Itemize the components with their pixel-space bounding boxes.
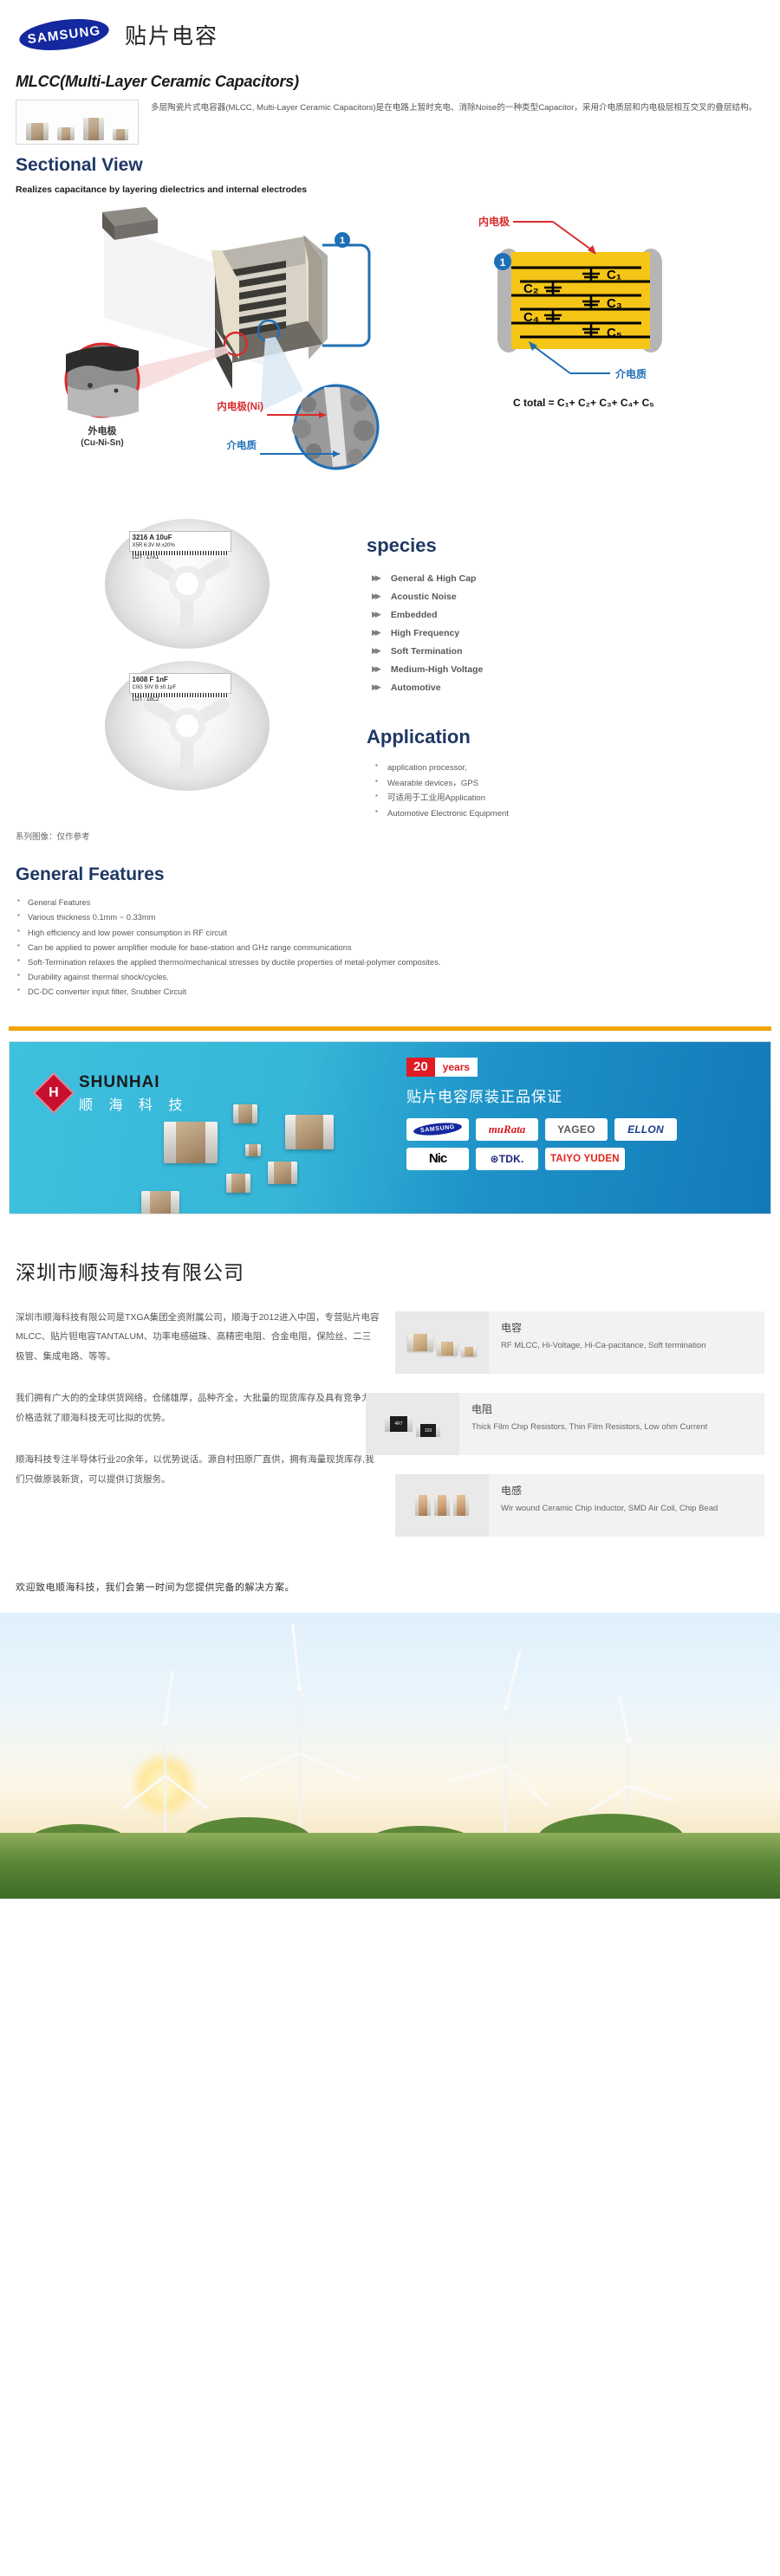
label-outer-electrode: 外电极 (88, 424, 118, 437)
years-badge: 20 years (406, 1058, 498, 1077)
application-item: 可适用于工业用Application (375, 791, 764, 806)
capacitor-thumb (395, 1311, 489, 1374)
reel-code-1: 3216 A 10uF (133, 534, 172, 541)
page-title: 贴片电容 (125, 19, 218, 50)
banner-left: H SHUNHAI 顺 海 科 技 (10, 1042, 391, 1214)
callout-1-bracket: 1 (322, 232, 369, 346)
species-item-label: Acoustic Noise (391, 592, 457, 602)
general-features-section: General Features General Features Variou… (0, 842, 780, 1000)
species-item: ▶▶ Embedded (367, 605, 764, 624)
species-item-label: High Frequency (391, 628, 459, 638)
general-features-item: General Features (16, 896, 764, 910)
sectional-diagram-svg: 1 外电极 (Cu-Ni-Sn) (0, 207, 780, 493)
company-section: 深圳市顺海科技有限公司 深圳市顺海科技有限公司是TXGA集团全资附属公司，顺海于… (0, 1214, 780, 1556)
species-item-label: Soft Termination (391, 646, 463, 657)
page-header: SAMSUNG 贴片电容 (0, 0, 780, 57)
banner-slogan: 贴片电容原装正品保证 (406, 1084, 770, 1106)
application-item: Automotive Electronic Equipment (375, 806, 764, 822)
species-application-column: species ▶▶ General & High Cap ▶▶ Acousti… (367, 519, 764, 821)
general-features-item: High efficiency and low power consumptio… (16, 926, 764, 941)
general-features-item: Soft-Termination relaxes the applied the… (16, 955, 764, 970)
brand-label: SAMSUNG (413, 1121, 462, 1137)
company-closing: 欢迎致电顺海科技，我们会第一时间为您提供完备的解决方案。 (0, 1556, 780, 1594)
company-paragraph: 深圳市顺海科技有限公司是TXGA集团全资附属公司，顺海于2012进入中国，专营贴… (16, 1308, 380, 1367)
capacitor-photo (164, 1122, 218, 1163)
banner-right: 20 years 贴片电容原装正品保证 SAMSUNG muRata YAGEO… (391, 1042, 770, 1214)
capacitor-photo (141, 1191, 179, 1214)
company-body: 深圳市顺海科技有限公司是TXGA集团全资附属公司，顺海于2012进入中国，专营贴… (16, 1308, 764, 1556)
brand-logo-taiyo-yuden[interactable]: TAIYO YUDEN (545, 1148, 625, 1170)
category-card-body: 电容 RF MLCC, Hi-Voltage, Hi-Ca-pacitance,… (489, 1311, 764, 1374)
years-word: years (435, 1058, 478, 1077)
company-text-column: 深圳市顺海科技有限公司是TXGA集团全资附属公司，顺海于2012进入中国，专营贴… (16, 1308, 380, 1512)
capacitor-photo (226, 1174, 250, 1193)
product-category-cards: 电容 RF MLCC, Hi-Voltage, Hi-Ca-pacitance,… (395, 1308, 764, 1556)
species-application-section: 3216 A 10uF X5R 6.3V M ±20% LOT : 17A1 1… (0, 505, 780, 821)
cap-label-c2: C₂ (523, 282, 539, 296)
chip-capacitor-icon (57, 127, 75, 140)
cap-label-c3: C₃ (607, 296, 622, 311)
cap-label-c1: C₁ (607, 268, 621, 282)
banner-divider (9, 1026, 771, 1031)
category-card-body: 电阻 Thick Film Chip Resistors, Thin Film … (459, 1393, 764, 1455)
brand-logo-samsung[interactable]: SAMSUNG (406, 1118, 469, 1141)
reel-sub-1: X5R 6.3V M ±20% (133, 543, 228, 550)
application-item: application processor, (375, 761, 764, 776)
species-title: species (367, 534, 764, 557)
species-item-label: Automotive (391, 683, 441, 693)
species-item: ▶▶ High Frequency (367, 624, 764, 642)
mlcc-chip-small (102, 207, 158, 240)
brand-logo-grid: SAMSUNG muRata YAGEO ELLON Nic ⊛TDK. TAI… (406, 1118, 688, 1170)
category-card-capacitor[interactable]: 电容 RF MLCC, Hi-Voltage, Hi-Ca-pacitance,… (395, 1311, 764, 1374)
application-title: Application (367, 726, 764, 748)
species-item: ▶▶ Soft Termination (367, 642, 764, 660)
shunhai-banner-section: H SHUNHAI 顺 海 科 技 (0, 1000, 780, 1214)
capacitor-photo (268, 1162, 297, 1184)
product-page: SAMSUNG 贴片电容 MLCC(Multi-Layer Ceramic Ca… (0, 0, 780, 1899)
double-chevron-icon: ▶▶ (372, 592, 379, 601)
company-title: 深圳市顺海科技有限公司 (16, 1256, 764, 1285)
chip-capacitor-icon (26, 123, 49, 140)
category-card-heading: 电感 (501, 1483, 754, 1498)
category-card-body: 电感 Wir wound Ceramic Chip Inductor, SMD … (489, 1474, 764, 1537)
years-number: 20 (406, 1058, 435, 1077)
schematic-label-inner-electrode: 内电极 (478, 215, 510, 228)
ground (0, 1833, 780, 1899)
category-card-resistor[interactable]: 4R7 103 电阻 Thick Film Chip Resistors, Th… (366, 1393, 764, 1455)
category-card-inductor[interactable]: 电感 Wir wound Ceramic Chip Inductor, SMD … (395, 1474, 764, 1537)
application-item: Wearable devices，GPS (375, 776, 764, 792)
category-card-text: Wir wound Ceramic Chip Inductor, SMD Air… (501, 1502, 754, 1516)
reel-label-1: 3216 A 10uF X5R 6.3V M ±20% LOT : 17A1 (129, 531, 231, 552)
series-note: 系列图像：仅作参考 (0, 821, 780, 842)
sectional-view-title: Sectional View (0, 155, 780, 184)
samsung-logo-text: SAMSUNG (27, 23, 102, 46)
capacitor-photo (245, 1144, 261, 1156)
label-inner-electrode-ni: 内电极(Ni) (217, 400, 263, 412)
general-features-title: General Features (16, 864, 764, 885)
sectional-view-diagram: 1 外电极 (Cu-Ni-Sn) (0, 207, 780, 493)
category-card-text: Thick Film Chip Resistors, Thin Film Res… (471, 1421, 754, 1434)
brand-logo-murata[interactable]: muRata (476, 1118, 538, 1141)
shunhai-banner: H SHUNHAI 顺 海 科 技 (9, 1041, 771, 1214)
general-features-item: Durability against thermal shock/cycles. (16, 970, 764, 985)
footer-landscape-image (0, 1613, 780, 1899)
cap-label-c4: C₄ (523, 310, 539, 325)
species-item: ▶▶ General & High Cap (367, 569, 764, 587)
application-list: application processor, Wearable devices，… (367, 761, 764, 821)
reel-lot-2: LOT : 18C2 (133, 697, 228, 704)
chip-capacitor-icon (113, 129, 128, 140)
general-features-item: Various thickness 0.1mm ~ 0.33mm (16, 910, 764, 925)
company-paragraph: 顺海科技专注半导体行业20余年，以优势说话。源自村田原厂直供，拥有海量现货库存,… (16, 1450, 380, 1489)
reel-image-2: 1608 F 1nF C0G 50V B ±0.1pF LOT : 18C2 (105, 661, 270, 791)
brand-logo-tdk[interactable]: ⊛TDK. (476, 1148, 538, 1170)
wind-turbine (468, 1705, 543, 1850)
banner-capacitor-photos (10, 1042, 391, 1214)
reel-label-2: 1608 F 1nF C0G 50V B ±0.1pF LOT : 18C2 (129, 673, 231, 694)
sem-image-outer-electrode (66, 344, 139, 417)
capacitor-schematic: C₁ C₂ C₃ C₄ C₅ 1 内电极 介电质 C total = C (478, 215, 662, 409)
mlcc-description: 多层陶瓷片式电容器(MLCC, Multi-Layer Ceramic Capa… (151, 100, 764, 115)
reel-code-2: 1608 F 1nF (133, 676, 168, 683)
company-paragraph: 我们拥有广大的的全球供货网络，仓储雄厚，品种齐全，大批量的现货库存及具有竞争力的… (16, 1388, 380, 1427)
sectional-view-subtitle: Realizes capacitance by layering dielect… (0, 184, 780, 202)
species-item: ▶▶ Acoustic Noise (367, 587, 764, 605)
label-dielectric: 介电质 (226, 439, 257, 451)
capacitor-photo (233, 1104, 257, 1123)
svg-text:1: 1 (340, 236, 345, 246)
schematic-callout-1: 1 (500, 256, 506, 269)
mlcc-product-photo (16, 100, 139, 145)
species-item: ▶▶ Automotive (367, 678, 764, 696)
general-features-item: Can be applied to power amplifier module… (16, 941, 764, 955)
cap-label-c5: C₅ (607, 326, 622, 340)
category-card-heading: 电阻 (471, 1401, 754, 1416)
capacitance-formula: C total = C₁+ C₂+ C₃+ C₄+ C₅ (513, 397, 654, 409)
category-card-text: RF MLCC, Hi-Voltage, Hi-Ca-pacitance, So… (501, 1339, 754, 1353)
general-features-list: General Features Various thickness 0.1mm… (16, 896, 764, 1000)
samsung-logo: SAMSUNG (17, 15, 110, 55)
double-chevron-icon: ▶▶ (372, 628, 379, 638)
double-chevron-icon: ▶▶ (372, 646, 379, 656)
species-item-label: Medium-High Voltage (391, 664, 484, 675)
category-card-heading: 电容 (501, 1320, 754, 1335)
reel-image-1: 3216 A 10uF X5R 6.3V M ±20% LOT : 17A1 (105, 519, 270, 649)
capacitor-photo (285, 1115, 334, 1149)
reel-images-column: 3216 A 10uF X5R 6.3V M ±20% LOT : 17A1 1… (16, 519, 358, 821)
species-list: ▶▶ General & High Cap ▶▶ Acoustic Noise … (367, 569, 764, 696)
brand-logo-yageo[interactable]: YAGEO (545, 1118, 608, 1141)
general-features-item: DC-DC converter input filter, Snubber Ci… (16, 985, 764, 1000)
species-item: ▶▶ Medium-High Voltage (367, 660, 764, 678)
mlcc-heading: MLCC(Multi-Layer Ceramic Capacitors) (0, 57, 780, 100)
schematic-label-dielectric: 介电质 (614, 367, 647, 380)
mlcc-intro-row: 多层陶瓷片式电容器(MLCC, Multi-Layer Ceramic Capa… (0, 100, 780, 155)
species-item-label: General & High Cap (391, 573, 477, 584)
double-chevron-icon: ▶▶ (372, 573, 379, 583)
double-chevron-icon: ▶▶ (372, 664, 379, 674)
double-chevron-icon: ▶▶ (372, 683, 379, 692)
inductor-thumb (395, 1474, 489, 1537)
resistor-thumb: 4R7 103 (366, 1393, 459, 1455)
species-item-label: Embedded (391, 610, 438, 620)
double-chevron-icon: ▶▶ (372, 610, 379, 619)
brand-logo-nic[interactable]: Nic (406, 1148, 469, 1170)
chip-capacitor-icon (83, 118, 104, 140)
brand-logo-ellon[interactable]: ELLON (614, 1118, 677, 1141)
reel-sub-2: C0G 50V B ±0.1pF (133, 685, 228, 692)
reel-lot-1: LOT : 17A1 (133, 555, 228, 562)
label-outer-electrode-sub: (Cu-Ni-Sn) (81, 438, 123, 448)
